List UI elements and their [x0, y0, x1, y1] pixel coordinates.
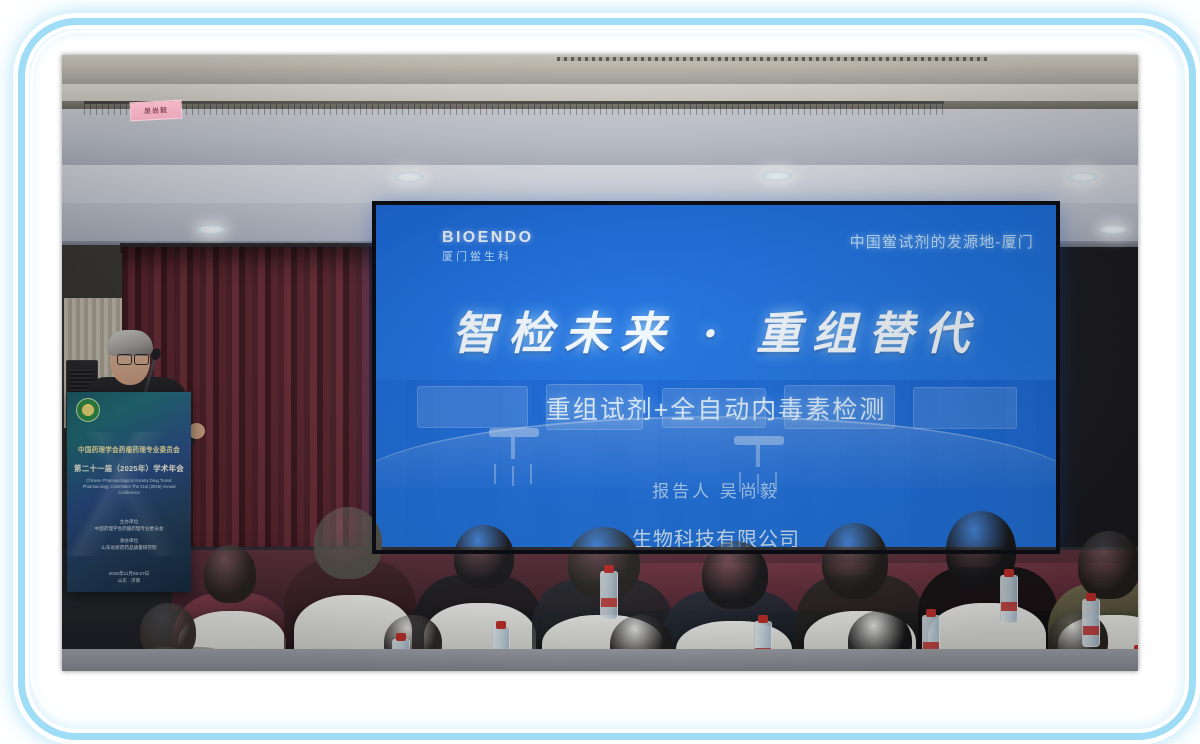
attendee-head [1078, 531, 1138, 599]
attendee-head [204, 545, 256, 603]
water-bottle [600, 571, 618, 619]
foreground-floor [62, 649, 1138, 671]
ceiling-panel-top [62, 55, 1138, 72]
ceiling-soffit-upper [62, 109, 1138, 165]
society-emblem-icon [76, 398, 100, 422]
ceiling-downlight [762, 171, 792, 181]
podium-host-label: 主办单位 [73, 518, 185, 525]
ceiling-downlight [394, 172, 424, 182]
podium-date-place: 2025年11月26-27日 山东 · 济南 [73, 570, 185, 584]
conference-photo: BIOENDO 厦门鲎生科 中国鲎试剂的发源地-厦门 智检未来 · 重组替代 重… [62, 55, 1138, 671]
podium-line1: 中国药理学会药瘤药理专业委员会 [71, 446, 187, 455]
ceiling-downlight [198, 225, 225, 234]
podium-line2: 第二十一届（2025年）学术年会 [71, 464, 187, 474]
presenter-glasses [117, 354, 149, 363]
podium-host-name: 中国药理学会药瘤药理专业委员会 [73, 525, 185, 532]
presenter-hair [107, 330, 153, 356]
ceiling-band-b [62, 72, 1138, 84]
led-screen-bezel [372, 201, 1060, 554]
podium-coorg-label: 承办单位 [73, 537, 185, 544]
presenter-name-card: 吴尚毅 [130, 100, 183, 122]
podium-place: 山东 · 济南 [73, 577, 185, 584]
water-bottle [1000, 575, 1018, 623]
podium-date: 2025年11月26-27日 [73, 570, 185, 577]
curtain-rail-hooks [84, 104, 945, 115]
podium-line-en: Chinese Pharmacological Society Drug Tum… [73, 478, 185, 496]
podium-banner: 中国药理学会药瘤药理专业委员会 第二十一届（2025年）学术年会 Chinese… [67, 392, 191, 592]
ceiling-band-c [62, 84, 1138, 101]
ceiling-soffit-mid [62, 165, 1138, 203]
podium-organizers: 主办单位 中国药理学会药瘤药理专业委员会 承办单位 山东省新药药品质量研究院 [73, 518, 185, 551]
ceiling-vent [557, 57, 987, 61]
podium-coorg-name: 山东省新药药品质量研究院 [73, 544, 185, 551]
water-bottle [1082, 599, 1100, 647]
ceiling-downlight [1068, 172, 1098, 182]
ceiling-downlight [1100, 225, 1127, 234]
